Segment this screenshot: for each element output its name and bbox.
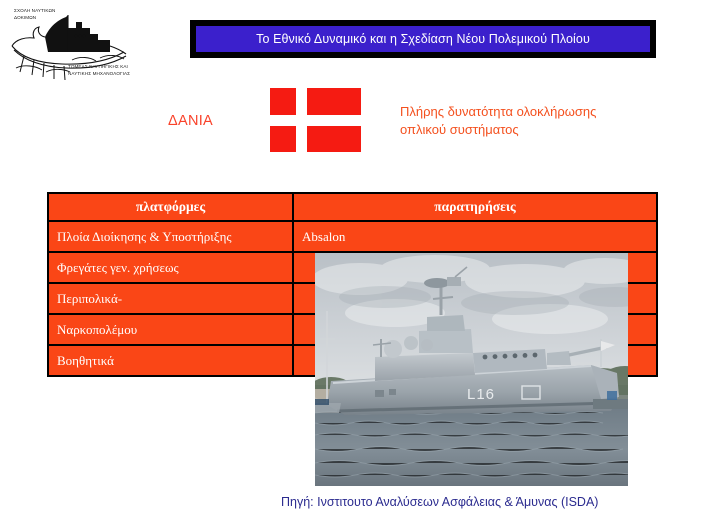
cell-platform: Περιπολικά-: [48, 283, 293, 314]
cell-notes: Absalon: [293, 221, 657, 252]
slide-title-banner: Το Εθνικό Δυναμικό και η Σχεδίαση Νέου Π…: [190, 20, 656, 58]
logo-caption-bottom-line2: ΝΑΥΤΙΚΗΣ ΜΗΧΑΝΟΛΟΓΙΑΣ: [68, 71, 130, 76]
flag-cross-horizontal: [270, 115, 361, 126]
denmark-flag-icon: [270, 88, 361, 152]
country-label: ΔΑΝΙΑ: [168, 113, 213, 129]
logo-caption-bottom-line1: ΤΟΜΕΑΣ ΝΑΥΠΗΓΙΚΗΣ ΚΑΙ: [68, 64, 128, 69]
table-row: Πλοία Διοίκησης & Υποστήριξης Absalon: [48, 221, 657, 252]
capability-note-line1: Πλήρης δυνατότητα ολοκλήρωσης: [400, 103, 662, 121]
cell-platform: Φρεγάτες γεν. χρήσεως: [48, 252, 293, 283]
cell-platform: Πλοία Διοίκησης & Υποστήριξης: [48, 221, 293, 252]
table-header-row: πλατφόρμες παρατηρήσεις: [48, 193, 657, 221]
column-header-platforms: πλατφόρμες: [48, 193, 293, 221]
cell-platform: Ναρκοπολέμου: [48, 314, 293, 345]
column-header-notes: παρατηρήσεις: [293, 193, 657, 221]
svg-text:L16: L16: [467, 386, 495, 403]
warship-illustration: L16: [315, 253, 628, 486]
capability-note-line2: οπλικού συστήματος: [400, 121, 662, 139]
cell-platform: Βοηθητικά: [48, 345, 293, 376]
capability-note: Πλήρης δυνατότητα ολοκλήρωσης οπλικού συ…: [400, 103, 662, 140]
institution-logo: ΣΧΟΛΗ ΝΑΥΤΙΚΩΝ ΔΟΚΙΜΩΝ ΤΟΜΕΑΣ ΝΑΥΠΗΓΙΚΗΣ…: [6, 6, 134, 82]
absalon-class-warship-photo: L16: [315, 253, 628, 486]
page-title: Το Εθνικό Δυναμικό και η Σχεδίαση Νέου Π…: [256, 32, 590, 46]
slide-title-banner-fill: Το Εθνικό Δυναμικό και η Σχεδίαση Νέου Π…: [196, 26, 650, 52]
source-caption: Πηγή: Ινστιτουτο Αναλύσεων Ασφάλειας & Ά…: [281, 495, 598, 509]
logo-caption-bottom: ΤΟΜΕΑΣ ΝΑΥΠΗΓΙΚΗΣ ΚΑΙ ΝΑΥΤΙΚΗΣ ΜΗΧΑΝΟΛΟΓ…: [68, 64, 130, 78]
